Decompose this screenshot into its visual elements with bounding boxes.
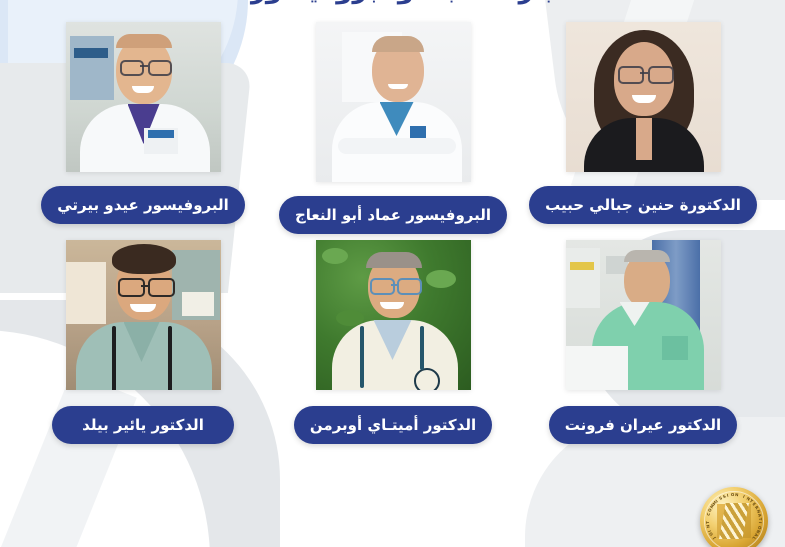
portrait-man-white-coat-arms-crossed [316,22,471,182]
portrait-woman-glasses-black-top [566,22,721,172]
doctor-card[interactable]: البروفيسور عماد أبو النعاج [272,22,514,234]
portrait-man-white-coat-hallway [66,22,221,172]
doctor-card[interactable]: الدكتور عيران فرونت [522,240,764,444]
doctor-photo-frame [566,240,721,390]
doctor-photo-frame [316,240,471,390]
doctor-card[interactable]: الدكتور يائير بيلد [22,240,264,444]
page-title: كبار الأطباء والبروفيسورات [0,0,785,6]
doctor-name-pill[interactable]: الدكتور يائير بيلد [52,406,234,444]
doctor-name-pill[interactable]: الدكتور أميتـاي أوبرمن [294,406,492,444]
doctor-name-pill[interactable]: البروفيسور عماد أبو النعاج [279,196,507,234]
doctor-photo-frame [66,240,221,390]
page-root: كبار الأطباء والبروفيسورات الدكتورة حنين… [0,0,785,547]
doctor-photo-frame [66,22,221,172]
doctor-card[interactable]: الدكتور أميتـاي أوبرمن [272,240,514,444]
doctor-photo-frame [566,22,721,172]
doctor-name-pill[interactable]: الدكتورة حنين جبالي حبيب [529,186,757,224]
doctor-photo-frame [316,22,471,182]
portrait-man-stethoscope-garden [316,240,471,390]
accreditation-badge-icon: JOINT COMMISSION INTERNATIONAL [700,487,768,547]
doctor-name-pill[interactable]: الدكتور عيران فرونت [549,406,737,444]
portrait-man-green-scrubs-ward [566,240,721,390]
doctors-grid: الدكتورة حنين جبالي حبيب البروفيسور عماد… [22,22,764,444]
doctor-card[interactable]: الدكتورة حنين جبالي حبيب [522,22,764,234]
doctor-card[interactable]: البروفيسور عيدو بيرتي [22,22,264,234]
doctor-name-pill[interactable]: البروفيسور عيدو بيرتي [41,186,245,224]
portrait-man-glasses-teal-scrubs [66,240,221,390]
